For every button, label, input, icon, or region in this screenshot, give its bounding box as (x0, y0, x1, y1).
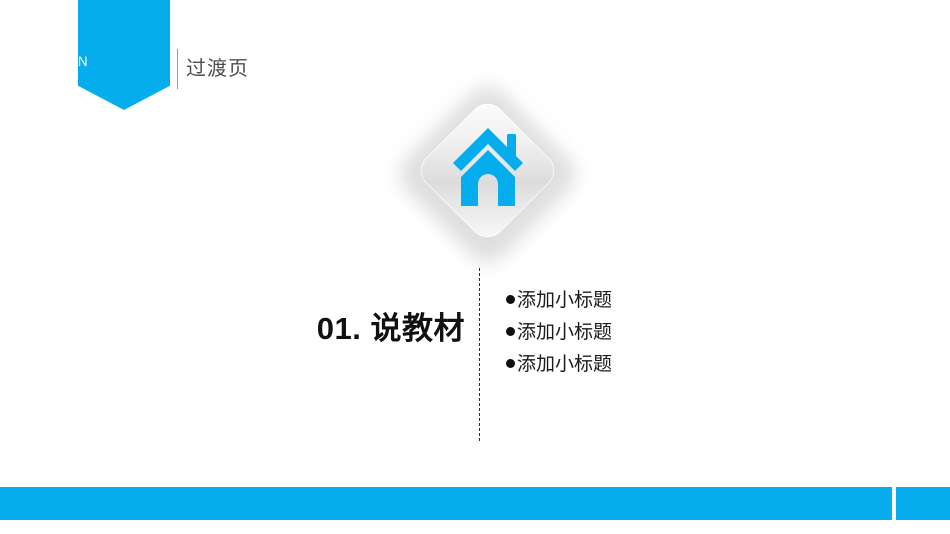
subtitle-bullet-list: 添加小标题 添加小标题 添加小标题 (506, 289, 612, 377)
ribbon-line-1: TRANSITION (0, 52, 92, 71)
list-item: 添加小标题 (506, 321, 612, 345)
ribbon-text: TRANSITION PAGE (0, 52, 92, 90)
bullet-dot-icon (506, 327, 515, 336)
list-item-label: 添加小标题 (517, 290, 612, 311)
ribbon-line-2: PAGE (0, 71, 92, 90)
emblem-diamond (413, 96, 562, 245)
list-item-label: 添加小标题 (517, 322, 612, 343)
vertical-dashed-divider (479, 268, 480, 441)
home-icon (451, 126, 525, 208)
list-item-label: 添加小标题 (517, 354, 612, 375)
footer-bar (0, 487, 892, 520)
footer-bar-accent (896, 487, 950, 520)
header-divider (177, 49, 178, 89)
list-item: 添加小标题 (506, 353, 612, 377)
header-subtitle: 过渡页 (186, 55, 249, 83)
bullet-dot-icon (506, 359, 515, 368)
list-item: 添加小标题 (506, 289, 612, 313)
bullet-dot-icon (506, 295, 515, 304)
section-title: 01. 说教材 (250, 308, 465, 350)
slide-canvas: TRANSITION PAGE 过渡页 01. 说教材 添加小标题 添加小标题 (0, 0, 950, 534)
